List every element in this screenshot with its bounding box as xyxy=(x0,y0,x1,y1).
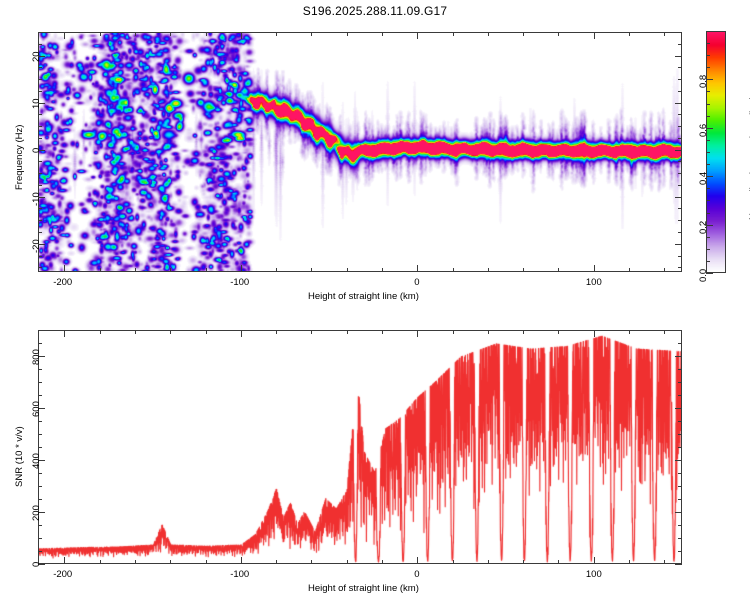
colorbar-minor-tick xyxy=(706,140,710,141)
spectrogram-axis-tick xyxy=(170,32,171,36)
spectrogram-axis-tick xyxy=(38,79,42,80)
snr-axis-tick xyxy=(347,330,348,334)
snr-axis-tick xyxy=(276,330,277,334)
snr-axis-tick xyxy=(64,330,65,337)
snr-axis-tick xyxy=(594,557,595,564)
snr-axis-tick xyxy=(38,421,42,422)
snr-y-axis-label: SNR (10 * v/v) xyxy=(14,426,25,487)
spectrogram-axis-tick xyxy=(594,32,595,39)
snr-axis-tick xyxy=(206,330,207,334)
spectrogram-axis-tick xyxy=(100,268,101,272)
spectrogram-axis-tick xyxy=(382,268,383,272)
snr-axes xyxy=(38,330,682,564)
colorbar-minor-tick xyxy=(706,91,710,92)
colorbar-tick-label: 0.6 xyxy=(698,124,709,137)
snr-line-plot xyxy=(39,331,681,563)
spectrogram-axis-tick xyxy=(64,265,65,272)
snr-axis-tick xyxy=(678,330,682,331)
spectrogram-axis-tick xyxy=(678,256,682,257)
spectrogram-tick-label: -10 xyxy=(31,193,42,207)
snr-axis-tick xyxy=(170,330,171,334)
snr-axis-tick xyxy=(38,382,42,383)
spectrogram-axis-tick xyxy=(678,173,682,174)
spectrogram-axis-tick xyxy=(38,138,42,139)
colorbar-tick-label: 0.4 xyxy=(698,172,709,185)
spectrogram-image xyxy=(39,33,681,271)
colorbar-minor-tick xyxy=(706,152,710,153)
colorbar-minor-tick xyxy=(706,261,710,262)
snr-axis-tick xyxy=(38,343,42,344)
snr-axis-tick xyxy=(170,560,171,564)
spectrogram-axis-tick xyxy=(678,44,682,45)
spectrogram-axis-tick xyxy=(675,103,682,104)
spectrogram-tick-label: 0 xyxy=(414,277,419,288)
spectrogram-axes xyxy=(38,32,682,272)
spectrogram-axis-tick xyxy=(135,32,136,36)
spectrogram-axis-tick xyxy=(678,232,682,233)
spectrogram-axis-tick xyxy=(417,32,418,39)
spectrogram-axis-tick xyxy=(558,32,559,36)
snr-axis-tick xyxy=(135,560,136,564)
spectrogram-axis-tick xyxy=(678,138,682,139)
snr-axis-tick xyxy=(629,330,630,334)
snr-axis-tick xyxy=(629,560,630,564)
spectrogram-tick-label: -100 xyxy=(230,277,249,288)
spectrogram-axis-tick xyxy=(675,56,682,57)
spectrogram-tick-label: 0 xyxy=(31,148,42,153)
snr-axis-tick xyxy=(678,473,682,474)
colorbar-minor-tick xyxy=(706,67,710,68)
snr-axis-tick xyxy=(38,434,42,435)
snr-axis-tick xyxy=(38,330,42,331)
spectrogram-axis-tick xyxy=(38,126,42,127)
spectrogram-axis-tick xyxy=(523,32,524,36)
snr-axis-tick xyxy=(38,499,42,500)
spectrogram-axis-tick xyxy=(678,67,682,68)
spectrogram-axis-tick xyxy=(678,208,682,209)
spectrogram-tick-label: 100 xyxy=(586,277,602,288)
spectrogram-axis-tick xyxy=(629,32,630,36)
snr-axis-tick xyxy=(276,560,277,564)
spectrogram-axis-tick xyxy=(675,244,682,245)
snr-tick-label: 0 xyxy=(414,569,419,580)
colorbar-minor-tick xyxy=(706,213,710,214)
snr-axis-tick xyxy=(311,330,312,334)
snr-tick-label: 400 xyxy=(31,453,42,469)
spectrogram-axis-tick xyxy=(678,220,682,221)
snr-axis-tick xyxy=(558,560,559,564)
spectrogram-axis-tick xyxy=(38,232,42,233)
spectrogram-axis-tick xyxy=(206,32,207,36)
colorbar-minor-tick xyxy=(706,164,710,165)
snr-axis-tick xyxy=(453,330,454,334)
snr-axis-tick xyxy=(678,486,682,487)
spectrogram-axis-tick xyxy=(311,268,312,272)
snr-axis-tick xyxy=(678,551,682,552)
spectrogram-tick-label: -20 xyxy=(31,240,42,254)
colorbar-minor-tick xyxy=(706,188,710,189)
colorbar-minor-tick xyxy=(706,116,710,117)
snr-axis-tick xyxy=(678,538,682,539)
spectrogram-tick-label: 20 xyxy=(31,52,42,63)
spectrogram-axis-tick xyxy=(38,44,42,45)
spectrogram-axis-tick xyxy=(206,268,207,272)
spectrogram-axis-tick xyxy=(664,32,665,36)
snr-axis-tick xyxy=(523,560,524,564)
spectrogram-axis-tick xyxy=(241,32,242,39)
snr-axis-tick xyxy=(488,560,489,564)
snr-tick-label: -100 xyxy=(230,569,249,580)
snr-axis-tick xyxy=(678,343,682,344)
snr-axis-tick xyxy=(594,330,595,337)
spectrogram-axis-tick xyxy=(453,268,454,272)
spectrogram-y-axis-label: Frequency (Hz) xyxy=(14,125,25,190)
spectrogram-axis-tick xyxy=(678,114,682,115)
colorbar-minor-tick xyxy=(706,237,710,238)
spectrogram-axis-tick xyxy=(276,32,277,36)
spectrogram-axis-tick xyxy=(678,32,682,33)
snr-axis-tick xyxy=(488,330,489,334)
spectrogram-axis-tick xyxy=(594,265,595,272)
snr-axis-tick xyxy=(100,560,101,564)
snr-axis-tick xyxy=(64,557,65,564)
snr-axis-tick xyxy=(678,434,682,435)
colorbar-minor-tick xyxy=(706,200,710,201)
spectrogram-axis-tick xyxy=(417,265,418,272)
snr-axis-tick xyxy=(678,421,682,422)
snr-axis-tick xyxy=(675,356,682,357)
spectrogram-tick-label: -200 xyxy=(53,277,72,288)
snr-tick-label: 100 xyxy=(586,569,602,580)
snr-axis-tick xyxy=(675,512,682,513)
snr-tick-label: 600 xyxy=(31,401,42,417)
snr-axis-tick xyxy=(38,551,42,552)
spectrogram-axis-tick xyxy=(523,268,524,272)
snr-axis-tick xyxy=(38,473,42,474)
snr-axis-tick xyxy=(678,447,682,448)
spectrogram-axis-tick xyxy=(64,32,65,39)
spectrogram-axis-tick xyxy=(38,185,42,186)
snr-x-axis-label: Height of straight line (km) xyxy=(308,583,419,594)
snr-tick-label: 800 xyxy=(31,349,42,365)
spectrogram-axis-tick xyxy=(170,268,171,272)
spectrogram-axis-tick xyxy=(135,268,136,272)
snr-axis-tick xyxy=(311,560,312,564)
spectrogram-axis-tick xyxy=(629,268,630,272)
snr-axis-tick xyxy=(558,330,559,334)
snr-axis-tick xyxy=(675,564,682,565)
snr-axis-tick xyxy=(38,369,42,370)
spectrogram-axis-tick xyxy=(488,268,489,272)
snr-axis-tick xyxy=(453,560,454,564)
colorbar-tick-label: 0.8 xyxy=(698,75,709,88)
snr-tick-label: 200 xyxy=(31,505,42,521)
snr-axis-tick xyxy=(417,557,418,564)
spectrogram-axis-tick xyxy=(347,32,348,36)
snr-axis-tick xyxy=(678,499,682,500)
spectrogram-axis-tick xyxy=(100,32,101,36)
colorbar-minor-tick xyxy=(706,249,710,250)
spectrogram-tick-label: 10 xyxy=(31,99,42,110)
snr-axis-tick xyxy=(417,330,418,337)
spectrogram-x-axis-label: Height of straight line (km) xyxy=(308,291,419,302)
spectrogram-axis-tick xyxy=(38,220,42,221)
snr-axis-tick xyxy=(241,330,242,337)
spectrogram-axis-tick xyxy=(678,267,682,268)
spectrogram-axis-tick xyxy=(38,161,42,162)
colorbar-tick-label: 0.0 xyxy=(698,269,709,282)
snr-axis-tick xyxy=(206,560,207,564)
spectrogram-axis-tick xyxy=(38,173,42,174)
spectrogram-axis-tick xyxy=(678,185,682,186)
colorbar-minor-tick xyxy=(706,55,710,56)
snr-axis-tick xyxy=(382,560,383,564)
spectrogram-axis-tick xyxy=(38,256,42,257)
spectrogram-axis-tick xyxy=(241,265,242,272)
spectrogram-axis-tick xyxy=(678,79,682,80)
snr-axis-tick xyxy=(523,330,524,334)
spectrogram-axis-tick xyxy=(38,67,42,68)
snr-axis-tick xyxy=(38,395,42,396)
spectrogram-axis-tick xyxy=(276,268,277,272)
spectrogram-axis-tick xyxy=(382,32,383,36)
snr-tick-label: 0 xyxy=(31,562,42,567)
spectrogram-axis-tick xyxy=(453,32,454,36)
page-title: S196.2025.288.11.09.G17 xyxy=(0,4,750,18)
spectrogram-axis-tick xyxy=(488,32,489,36)
spectrogram-axis-tick xyxy=(38,32,42,33)
spectrogram-axis-tick xyxy=(675,197,682,198)
snr-axis-tick xyxy=(675,460,682,461)
snr-axis-tick xyxy=(38,525,42,526)
colorbar-tick-label: 0.2 xyxy=(698,221,709,234)
snr-axis-tick xyxy=(38,538,42,539)
spectrogram-axis-tick xyxy=(675,150,682,151)
snr-axis-tick xyxy=(678,382,682,383)
spectrogram-axis-tick xyxy=(38,208,42,209)
spectrogram-axis-tick xyxy=(38,91,42,92)
spectrogram-axis-tick xyxy=(678,126,682,127)
colorbar-minor-tick xyxy=(706,43,710,44)
snr-axis-tick xyxy=(664,330,665,334)
snr-axis-tick xyxy=(664,560,665,564)
snr-axis-tick xyxy=(241,557,242,564)
snr-axis-tick xyxy=(135,330,136,334)
spectrogram-axis-tick xyxy=(678,91,682,92)
spectrogram-axis-tick xyxy=(678,161,682,162)
snr-tick-label: -200 xyxy=(53,569,72,580)
spectrogram-axis-tick xyxy=(38,267,42,268)
snr-axis-tick xyxy=(347,560,348,564)
snr-axis-tick xyxy=(100,330,101,334)
snr-axis-tick xyxy=(382,330,383,334)
spectrogram-axis-tick xyxy=(664,268,665,272)
snr-axis-tick xyxy=(38,486,42,487)
snr-axis-tick xyxy=(678,369,682,370)
colorbar-minor-tick xyxy=(706,104,710,105)
spectrogram-axis-tick xyxy=(558,268,559,272)
snr-axis-tick xyxy=(678,525,682,526)
snr-axis-tick xyxy=(675,408,682,409)
spectrogram-axis-tick xyxy=(311,32,312,36)
colorbar-minor-tick xyxy=(706,31,710,32)
spectrogram-axis-tick xyxy=(347,268,348,272)
spectrogram-axis-tick xyxy=(38,114,42,115)
snr-axis-tick xyxy=(38,447,42,448)
snr-axis-tick xyxy=(678,395,682,396)
